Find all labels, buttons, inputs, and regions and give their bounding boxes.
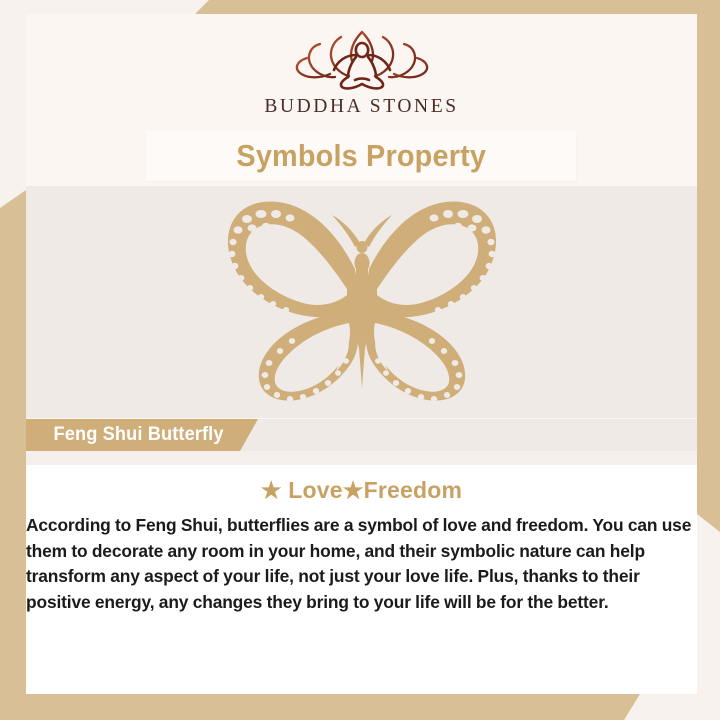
frame-band-right bbox=[697, 0, 720, 532]
frame-band-left bbox=[0, 190, 26, 720]
brand-name: BUDDHA STONES bbox=[264, 96, 458, 118]
tag-strip-spacer bbox=[26, 451, 697, 465]
description-panel: ★ Love★Freedom According to Feng Shui, b… bbox=[26, 465, 697, 694]
content-subtitle: ★ Love★Freedom bbox=[26, 477, 697, 504]
feng-shui-butterfly-tag: Feng Shui Butterfly bbox=[26, 419, 258, 451]
content-paragraph: According to Feng Shui, butterflies are … bbox=[26, 513, 697, 615]
frame-band-top bbox=[195, 0, 720, 14]
illustration-stage bbox=[26, 186, 697, 418]
promo-graphic-root: BUDDHA STONES Symbols Property bbox=[0, 0, 720, 720]
brand-header: BUDDHA STONES bbox=[26, 14, 697, 124]
title-banner: Symbols Property bbox=[146, 131, 576, 181]
tag-label: Feng Shui Butterfly bbox=[54, 424, 224, 446]
page-title: Symbols Property bbox=[236, 138, 486, 174]
monarch-butterfly-icon bbox=[197, 193, 527, 411]
page-sheet: BUDDHA STONES Symbols Property bbox=[26, 14, 697, 694]
frame-band-bottom bbox=[0, 694, 640, 720]
lotus-meditation-icon bbox=[287, 28, 437, 90]
